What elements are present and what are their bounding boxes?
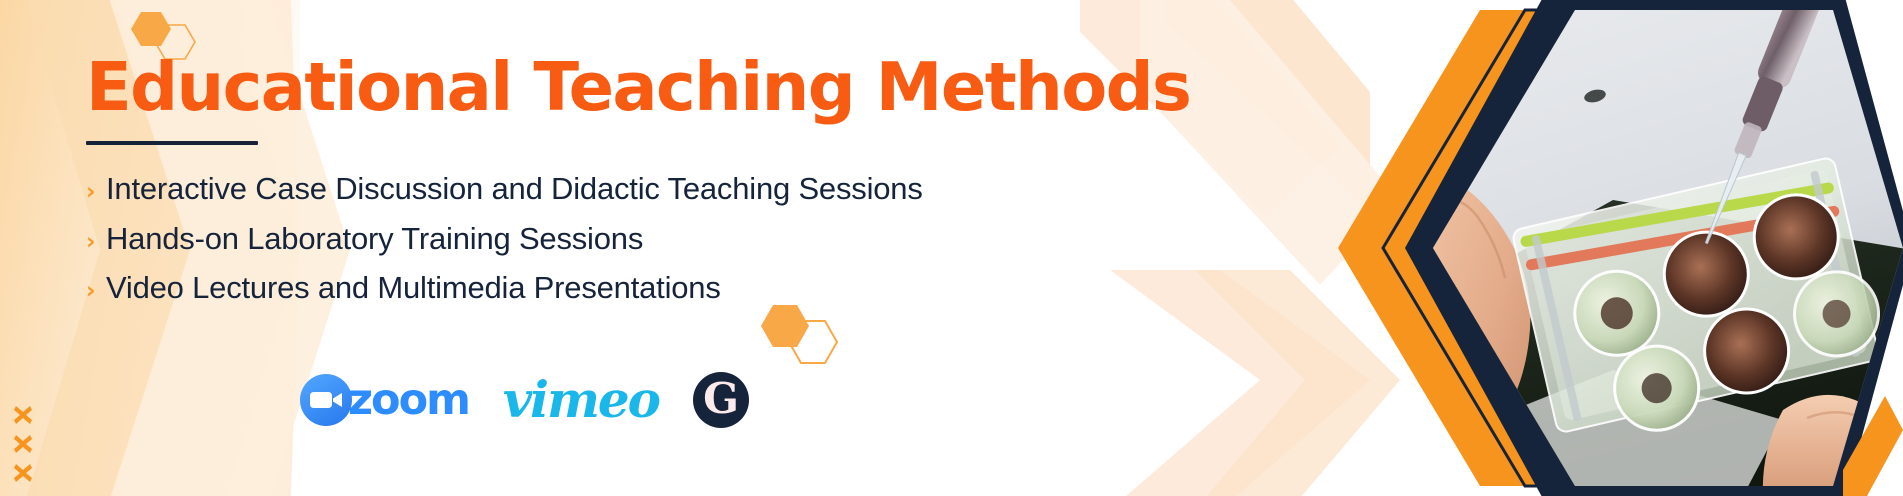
gotomeeting-badge: G	[693, 372, 749, 428]
list-item: › Hands-on Laboratory Training Sessions	[86, 219, 1026, 259]
hexagon-photo-cluster	[1143, 0, 1903, 496]
list-item: › Interactive Case Discussion and Didact…	[86, 169, 1026, 209]
chevron-right-icon: ›	[86, 181, 106, 204]
chevron-right-icon: ›	[86, 280, 106, 303]
title-divider	[86, 141, 258, 145]
x-mark-icon	[12, 404, 34, 426]
x-mark-icon	[12, 433, 34, 455]
platform-logo-row: zoom vimeo G	[300, 368, 749, 432]
zoom-logo: zoom	[300, 374, 469, 426]
x-mark-decoration-group	[12, 404, 34, 484]
page-title: Educational Teaching Methods	[86, 52, 1026, 123]
vimeo-logo: vimeo	[503, 375, 659, 425]
gotomeeting-logo-label: G	[703, 378, 739, 420]
teaching-methods-list: › Interactive Case Discussion and Didact…	[86, 169, 1026, 308]
banner-content: Educational Teaching Methods › Interacti…	[86, 52, 1026, 318]
educational-teaching-methods-banner: Educational Teaching Methods › Interacti…	[0, 0, 1903, 496]
list-item-label: Video Lectures and Multimedia Presentati…	[106, 268, 721, 308]
list-item-label: Interactive Case Discussion and Didactic…	[106, 169, 923, 209]
chevron-right-icon: ›	[86, 231, 106, 254]
zoom-camera-icon	[300, 374, 352, 426]
vimeo-logo-label: vimeo	[503, 375, 659, 425]
list-item: › Video Lectures and Multimedia Presenta…	[86, 268, 1026, 308]
x-mark-icon	[12, 462, 34, 484]
lab-photo-hexagon	[1143, 0, 1903, 496]
list-item-label: Hands-on Laboratory Training Sessions	[106, 219, 643, 259]
gotomeeting-logo: G	[693, 372, 749, 428]
zoom-logo-label: zoom	[348, 379, 469, 422]
